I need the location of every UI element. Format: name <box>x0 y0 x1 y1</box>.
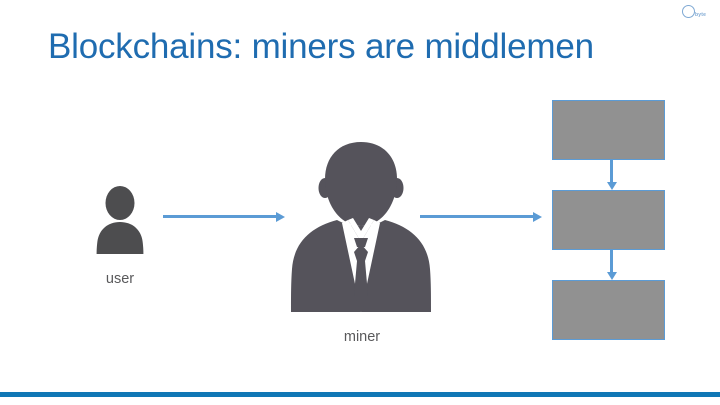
arrow-shaft <box>163 215 277 218</box>
footer-accent-bar <box>0 392 720 397</box>
miner-label: miner <box>312 329 412 345</box>
arrow-head <box>607 272 617 280</box>
user-label: user <box>82 271 158 287</box>
blockchain-block <box>552 100 665 160</box>
arrow-shaft <box>610 250 613 273</box>
page-title: Blockchains: miners are middlemen <box>48 27 688 67</box>
arrow-down-icon <box>606 160 618 190</box>
blockchain-block <box>552 280 665 340</box>
person-silhouette-icon <box>93 186 147 254</box>
businessman-silhouette-icon <box>286 140 436 312</box>
slide-canvas: byte Blockchains: miners are middlemen u… <box>0 0 720 405</box>
brand-wordmark: byte <box>695 12 706 18</box>
brand-logo[interactable]: byte <box>680 4 716 24</box>
arrow-head <box>533 212 542 222</box>
arrow-head <box>607 182 617 190</box>
arrow-right-icon <box>420 211 542 223</box>
arrow-head <box>276 212 285 222</box>
arrow-down-icon <box>606 250 618 280</box>
circle-outline-icon <box>682 5 695 18</box>
arrow-shaft <box>610 160 613 183</box>
arrow-right-icon <box>163 211 285 223</box>
blockchain-block <box>552 190 665 250</box>
arrow-shaft <box>420 215 534 218</box>
